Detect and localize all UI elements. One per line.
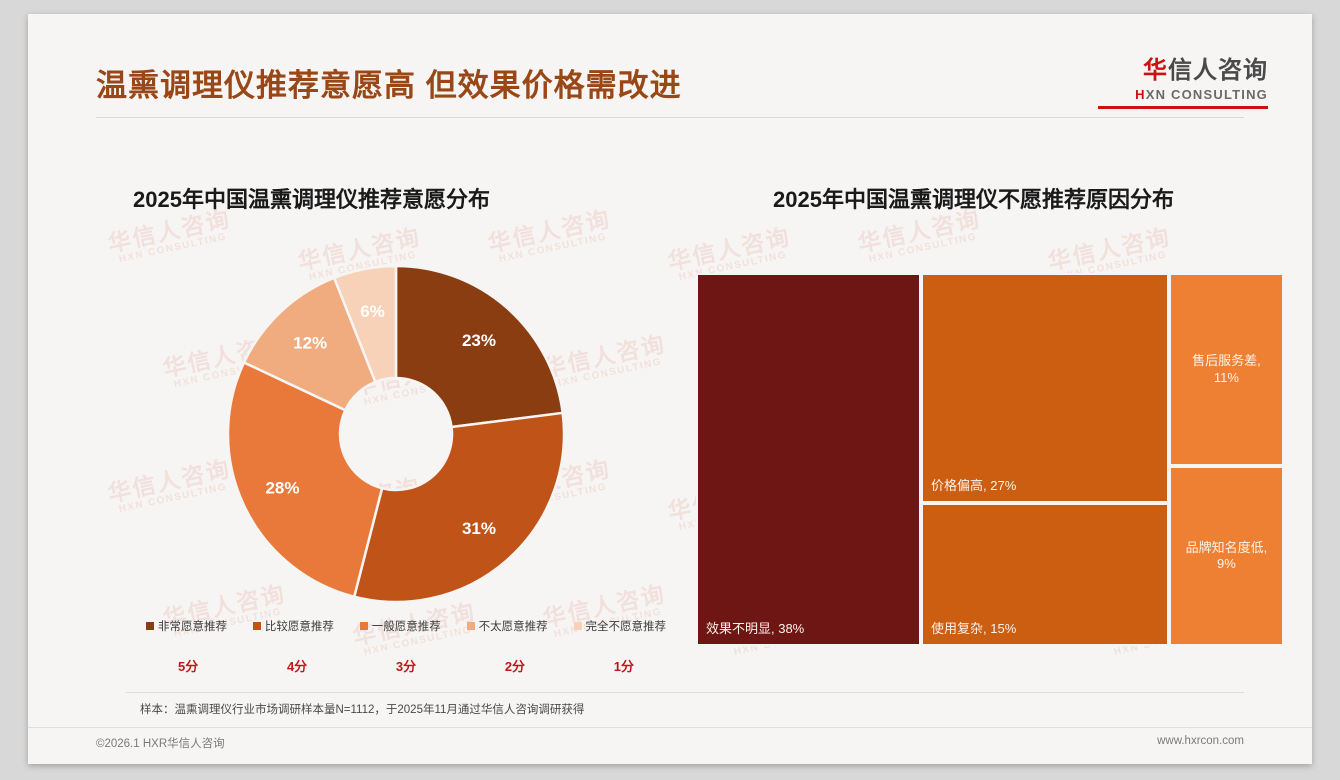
logo-en-red: H — [1135, 87, 1146, 102]
donut-slice[interactable] — [228, 362, 382, 596]
legend-swatch-icon — [360, 622, 368, 630]
score-label: 5分 — [178, 656, 198, 675]
footnote-text: 样本：温熏调理仪行业市场调研样本量N=1112，于2025年11月通过华信人咨询… — [140, 701, 584, 717]
legend-item-label: 非常愿意推荐 — [158, 618, 227, 634]
watermark-cn: 华信人咨询 — [106, 456, 233, 506]
donut-chart-svg: 23%31%28%12%6% — [224, 262, 568, 606]
header-divider — [96, 117, 1244, 118]
donut-chart: 23%31%28%12%6% — [224, 262, 568, 606]
watermark: 华信人咨询HXN CONSULTING — [856, 206, 986, 266]
logo-underline — [1098, 106, 1268, 109]
legend-swatch-icon — [253, 622, 261, 630]
treemap-cell-label: 价格偏高, 27% — [931, 478, 1159, 494]
legend-item[interactable]: 一般愿意推荐 — [360, 618, 441, 634]
right-chart-title: 2025年中国温熏调理仪不愿推荐原因分布 — [773, 182, 1174, 214]
treemap-cell[interactable]: 效果不明显, 38% — [696, 273, 921, 646]
treemap-cell-label: 售后服务差,11% — [1179, 353, 1274, 386]
logo-english-text: HXN CONSULTING — [1098, 87, 1268, 102]
legend-item[interactable]: 非常愿意推荐 — [146, 618, 227, 634]
legend-item[interactable]: 比较愿意推荐 — [253, 618, 334, 634]
score-label: 1分 — [614, 656, 634, 675]
donut-slice-label: 28% — [265, 478, 299, 497]
score-scale-row: 5分4分3分2分1分 — [178, 656, 634, 675]
legend-item[interactable]: 完全不愿意推荐 — [574, 618, 667, 634]
donut-slice-label: 12% — [293, 334, 327, 353]
legend-item-label: 不太愿意推荐 — [479, 618, 548, 634]
score-label: 3分 — [396, 656, 416, 675]
footer-website[interactable]: www.hxrcon.com — [1157, 735, 1244, 747]
watermark-en: HXN CONSULTING — [861, 230, 986, 267]
watermark-en: HXN CONSULTING — [111, 480, 236, 517]
treemap-cell[interactable]: 价格偏高, 27% — [921, 273, 1169, 503]
donut-slice-label: 23% — [462, 331, 496, 350]
company-logo: 华信人咨询 HXN CONSULTING — [1098, 58, 1268, 109]
logo-chinese-text: 华信人咨询 — [1098, 58, 1268, 84]
watermark: 华信人咨询HXN CONSULTING — [106, 456, 236, 516]
treemap-chart: 效果不明显, 38%价格偏高, 27%使用复杂, 15%售后服务差,11%品牌知… — [696, 273, 1284, 646]
treemap-cell-label: 使用复杂, 15% — [931, 621, 1159, 637]
logo-cn-rest: 信人咨询 — [1168, 57, 1268, 84]
logo-cn-red: 华 — [1143, 57, 1168, 84]
treemap-cell[interactable]: 售后服务差,11% — [1169, 273, 1284, 466]
legend-item-label: 一般愿意推荐 — [372, 618, 441, 634]
footer-copyright: ©2026.1 HXR华信人咨询 — [96, 735, 225, 751]
donut-slice-label: 31% — [462, 519, 496, 538]
watermark-cn: 华信人咨询 — [486, 206, 613, 256]
slide-header: 温熏调理仪推荐意愿高 但效果价格需改进 华信人咨询 HXN CONSULTING — [28, 14, 1312, 124]
donut-legend: 非常愿意推荐比较愿意推荐一般愿意推荐不太愿意推荐完全不愿意推荐 — [146, 618, 666, 634]
donut-slice[interactable] — [354, 413, 564, 602]
treemap-cell[interactable]: 使用复杂, 15% — [921, 503, 1169, 646]
watermark: 华信人咨询HXN CONSULTING — [486, 206, 616, 266]
score-label: 2分 — [505, 656, 525, 675]
watermark-cn: 华信人咨询 — [666, 224, 793, 274]
slide-canvas: 华信人咨询HXN CONSULTING华信人咨询HXN CONSULTING华信… — [28, 14, 1312, 764]
footnote-divider — [126, 692, 1244, 693]
treemap-cell-label: 效果不明显, 38% — [706, 621, 911, 637]
donut-slice-label: 6% — [360, 302, 385, 321]
legend-item[interactable]: 不太愿意推荐 — [467, 618, 548, 634]
legend-swatch-icon — [574, 622, 582, 630]
legend-item-label: 比较愿意推荐 — [265, 618, 334, 634]
watermark-cn: 华信人咨询 — [1046, 224, 1173, 274]
treemap-cell[interactable]: 品牌知名度低,9% — [1169, 466, 1284, 646]
treemap-cell-label: 品牌知名度低,9% — [1179, 540, 1274, 573]
page-title: 温熏调理仪推荐意愿高 但效果价格需改进 — [96, 60, 682, 105]
legend-swatch-icon — [467, 622, 475, 630]
logo-en-rest: XN CONSULTING — [1146, 87, 1268, 102]
watermark-en: HXN CONSULTING — [111, 230, 236, 267]
slide-footer: ©2026.1 HXR华信人咨询 www.hxrcon.com — [28, 728, 1312, 764]
left-chart-title: 2025年中国温熏调理仪推荐意愿分布 — [133, 182, 490, 214]
legend-swatch-icon — [146, 622, 154, 630]
legend-item-label: 完全不愿意推荐 — [586, 618, 667, 634]
watermark: 华信人咨询HXN CONSULTING — [106, 206, 236, 266]
score-label: 4分 — [287, 656, 307, 675]
